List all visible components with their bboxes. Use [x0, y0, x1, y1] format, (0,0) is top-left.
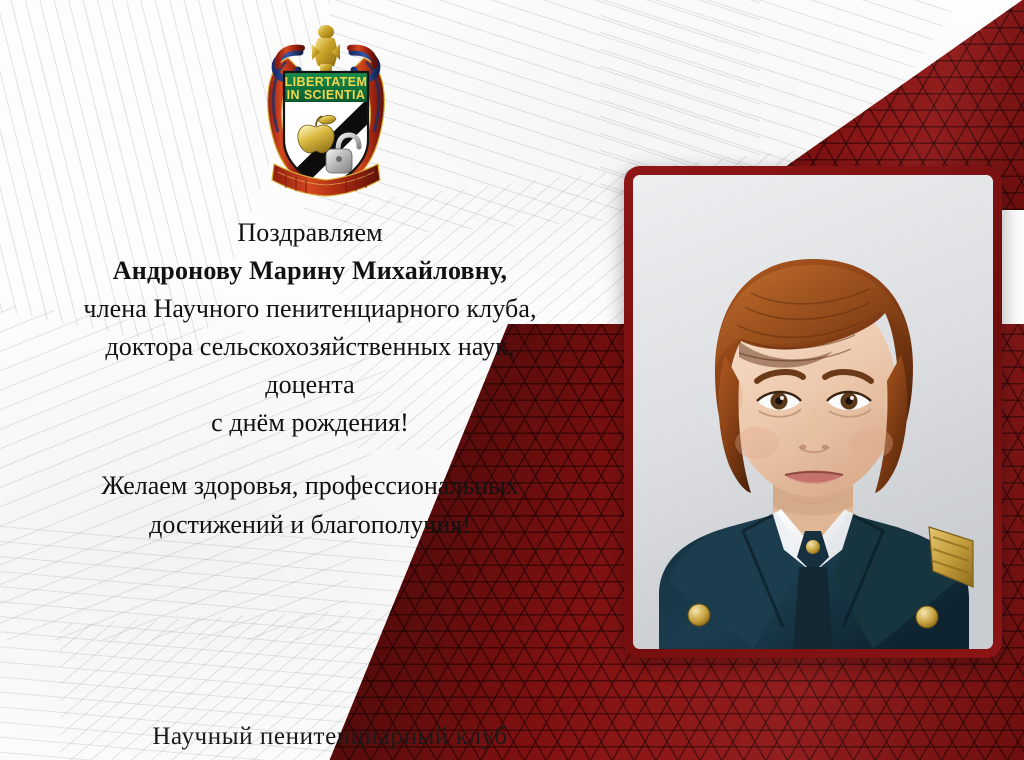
message-line-2: члена Научного пенитенциарного клуба,: [0, 290, 620, 328]
emblem-motto-line1: LIBERTATEM: [285, 75, 368, 89]
wishes-line-1: достижений и благополучия!: [0, 505, 620, 544]
portrait-image: [633, 175, 993, 649]
portrait-frame: [624, 166, 1002, 658]
greeting-card: LIBERTATEM IN SCIENTIA: [0, 0, 1024, 760]
wishes-line-0: Желаем здоровья, профессиональных: [0, 466, 620, 505]
coat-of-arms-icon: LIBERTATEM IN SCIENTIA: [256, 22, 396, 198]
wishes-message: Желаем здоровья, профессиональных достиж…: [0, 466, 620, 544]
message-line-4: доцента: [0, 366, 620, 404]
portrait-photo: [633, 175, 993, 649]
crest-figure-icon: [312, 25, 340, 74]
emblem-motto-line2: IN SCIENTIA: [287, 88, 366, 102]
message-line-5: с днём рождения!: [0, 404, 620, 442]
congratulation-message: Поздравляем Андронову Марину Михайловну,…: [0, 214, 620, 442]
organization-name: Научный пенитенциарный клуб: [0, 723, 660, 751]
message-line-3: доктора сельскохозяйственных наук,: [0, 328, 620, 366]
message-line-1-honoree-name: Андронову Марину Михайловну,: [0, 252, 620, 290]
coat-of-arms-emblem: LIBERTATEM IN SCIENTIA: [256, 22, 396, 198]
message-line-0: Поздравляем: [0, 214, 620, 252]
